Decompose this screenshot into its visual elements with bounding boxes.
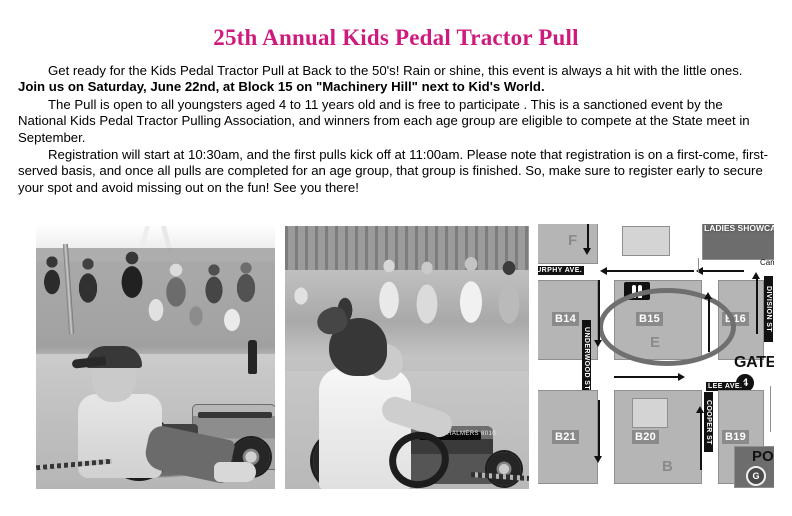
map-arrow-division-up-head	[752, 272, 760, 279]
map-label-po: PO	[752, 448, 774, 465]
map-building-b20-inner	[632, 398, 668, 428]
paragraph-eligibility-text: The Pull is open to all youngsters aged …	[18, 97, 750, 145]
paragraph-intro: Get ready for the Kids Pedal Tractor Pul…	[18, 63, 770, 96]
map-arrow-underwood-down-line	[598, 280, 600, 342]
photo-boy-on-tractor-canvas	[36, 226, 275, 489]
map-street-underwood-st: UNDERWOOD ST	[582, 320, 591, 398]
map-arrow-mid-east-head	[678, 373, 685, 381]
map-zone-letter-f: F	[568, 232, 577, 249]
paragraph-registration: Registration will start at 10:30am, and …	[18, 147, 770, 196]
map-block-label-b19: B19	[722, 430, 749, 444]
map-label-gate: GATE	[734, 354, 774, 372]
article-body: Get ready for the Kids Pedal Tractor Pul…	[0, 49, 792, 196]
map-arrow-division-up-line	[756, 278, 758, 334]
photo2-tractor-front-wheel	[487, 452, 521, 486]
map-street-cooper-st: COOPER ST	[704, 392, 713, 452]
fairgrounds-map: F LADIES SHOWCASE MURPHY AVE. B14 B15 E	[538, 224, 774, 488]
photo1-boy-cap	[86, 346, 142, 368]
map-arrow-cooper-up-line	[700, 412, 702, 470]
map-arrow-underwood-down-head-top	[583, 248, 591, 255]
map-zone-letter-b: B	[662, 458, 673, 475]
photo-boy-on-tractor	[36, 226, 275, 489]
map-arrow-mid-east-line	[614, 376, 680, 378]
map-label-ladies-showcase: LADIES SHOWCASE	[704, 224, 770, 233]
map-block-label-b21: B21	[552, 430, 579, 444]
map-arrow-inner-up-line	[708, 298, 710, 352]
map-label-cam: Cam	[760, 258, 774, 267]
photo-girl-on-tractor: ALLIS CHALMERS 8010	[285, 226, 529, 489]
paragraph-eligibility: The Pull is open to all youngsters aged …	[18, 97, 770, 146]
paragraph-registration-text: Registration will start at 10:30am, and …	[18, 147, 768, 195]
map-building-top	[622, 226, 670, 256]
map-block-label-b14: B14	[552, 312, 579, 326]
map-arrow-underwood-down-head-bottom	[594, 456, 602, 463]
photo1-water-bottle	[248, 340, 257, 374]
map-highlight-block-15	[598, 288, 736, 366]
info-badge: G	[746, 466, 766, 486]
map-street-murphy-ave: MURPHY AVE.	[538, 266, 584, 275]
map-arrow-underwood-down-head	[594, 340, 602, 347]
map-arrow-inner-up-head	[704, 292, 712, 299]
paragraph-intro-text-run-2-bold: Join us on Saturday, June 22nd, at Block…	[18, 79, 545, 94]
photo1-boy-shoe	[214, 462, 256, 482]
map-street-division-st: DIVISION ST	[764, 276, 773, 342]
photo-girl-on-tractor-canvas: ALLIS CHALMERS 8010	[285, 226, 529, 489]
photo1-tractor-hood-stripe	[198, 412, 272, 418]
map-arrow-underwood-down-line-bottom	[598, 400, 600, 458]
map-arrow-murphy-west2-line	[702, 270, 744, 272]
map-arrow-murphy-west-head	[600, 267, 607, 275]
map-block-label-b20: B20	[632, 430, 659, 444]
figure-strip: ALLIS CHALMERS 8010 F LADIES SHOWCASE	[0, 224, 792, 494]
map-arrow-underwood-down-line-top	[587, 224, 589, 250]
map-arrow-cooper-up-head	[696, 406, 704, 413]
paragraph-intro-text-run-1: Get ready for the Kids Pedal Tractor Pul…	[48, 63, 742, 78]
fairgrounds-map-canvas: F LADIES SHOWCASE MURPHY AVE. B14 B15 E	[538, 224, 774, 488]
page-title: 25th Annual Kids Pedal Tractor Pull	[0, 0, 792, 49]
photo2-spectators	[285, 242, 529, 372]
map-divider-top	[698, 258, 699, 272]
map-arrow-murphy-west-line	[606, 270, 694, 272]
map-divider-right	[770, 386, 771, 432]
